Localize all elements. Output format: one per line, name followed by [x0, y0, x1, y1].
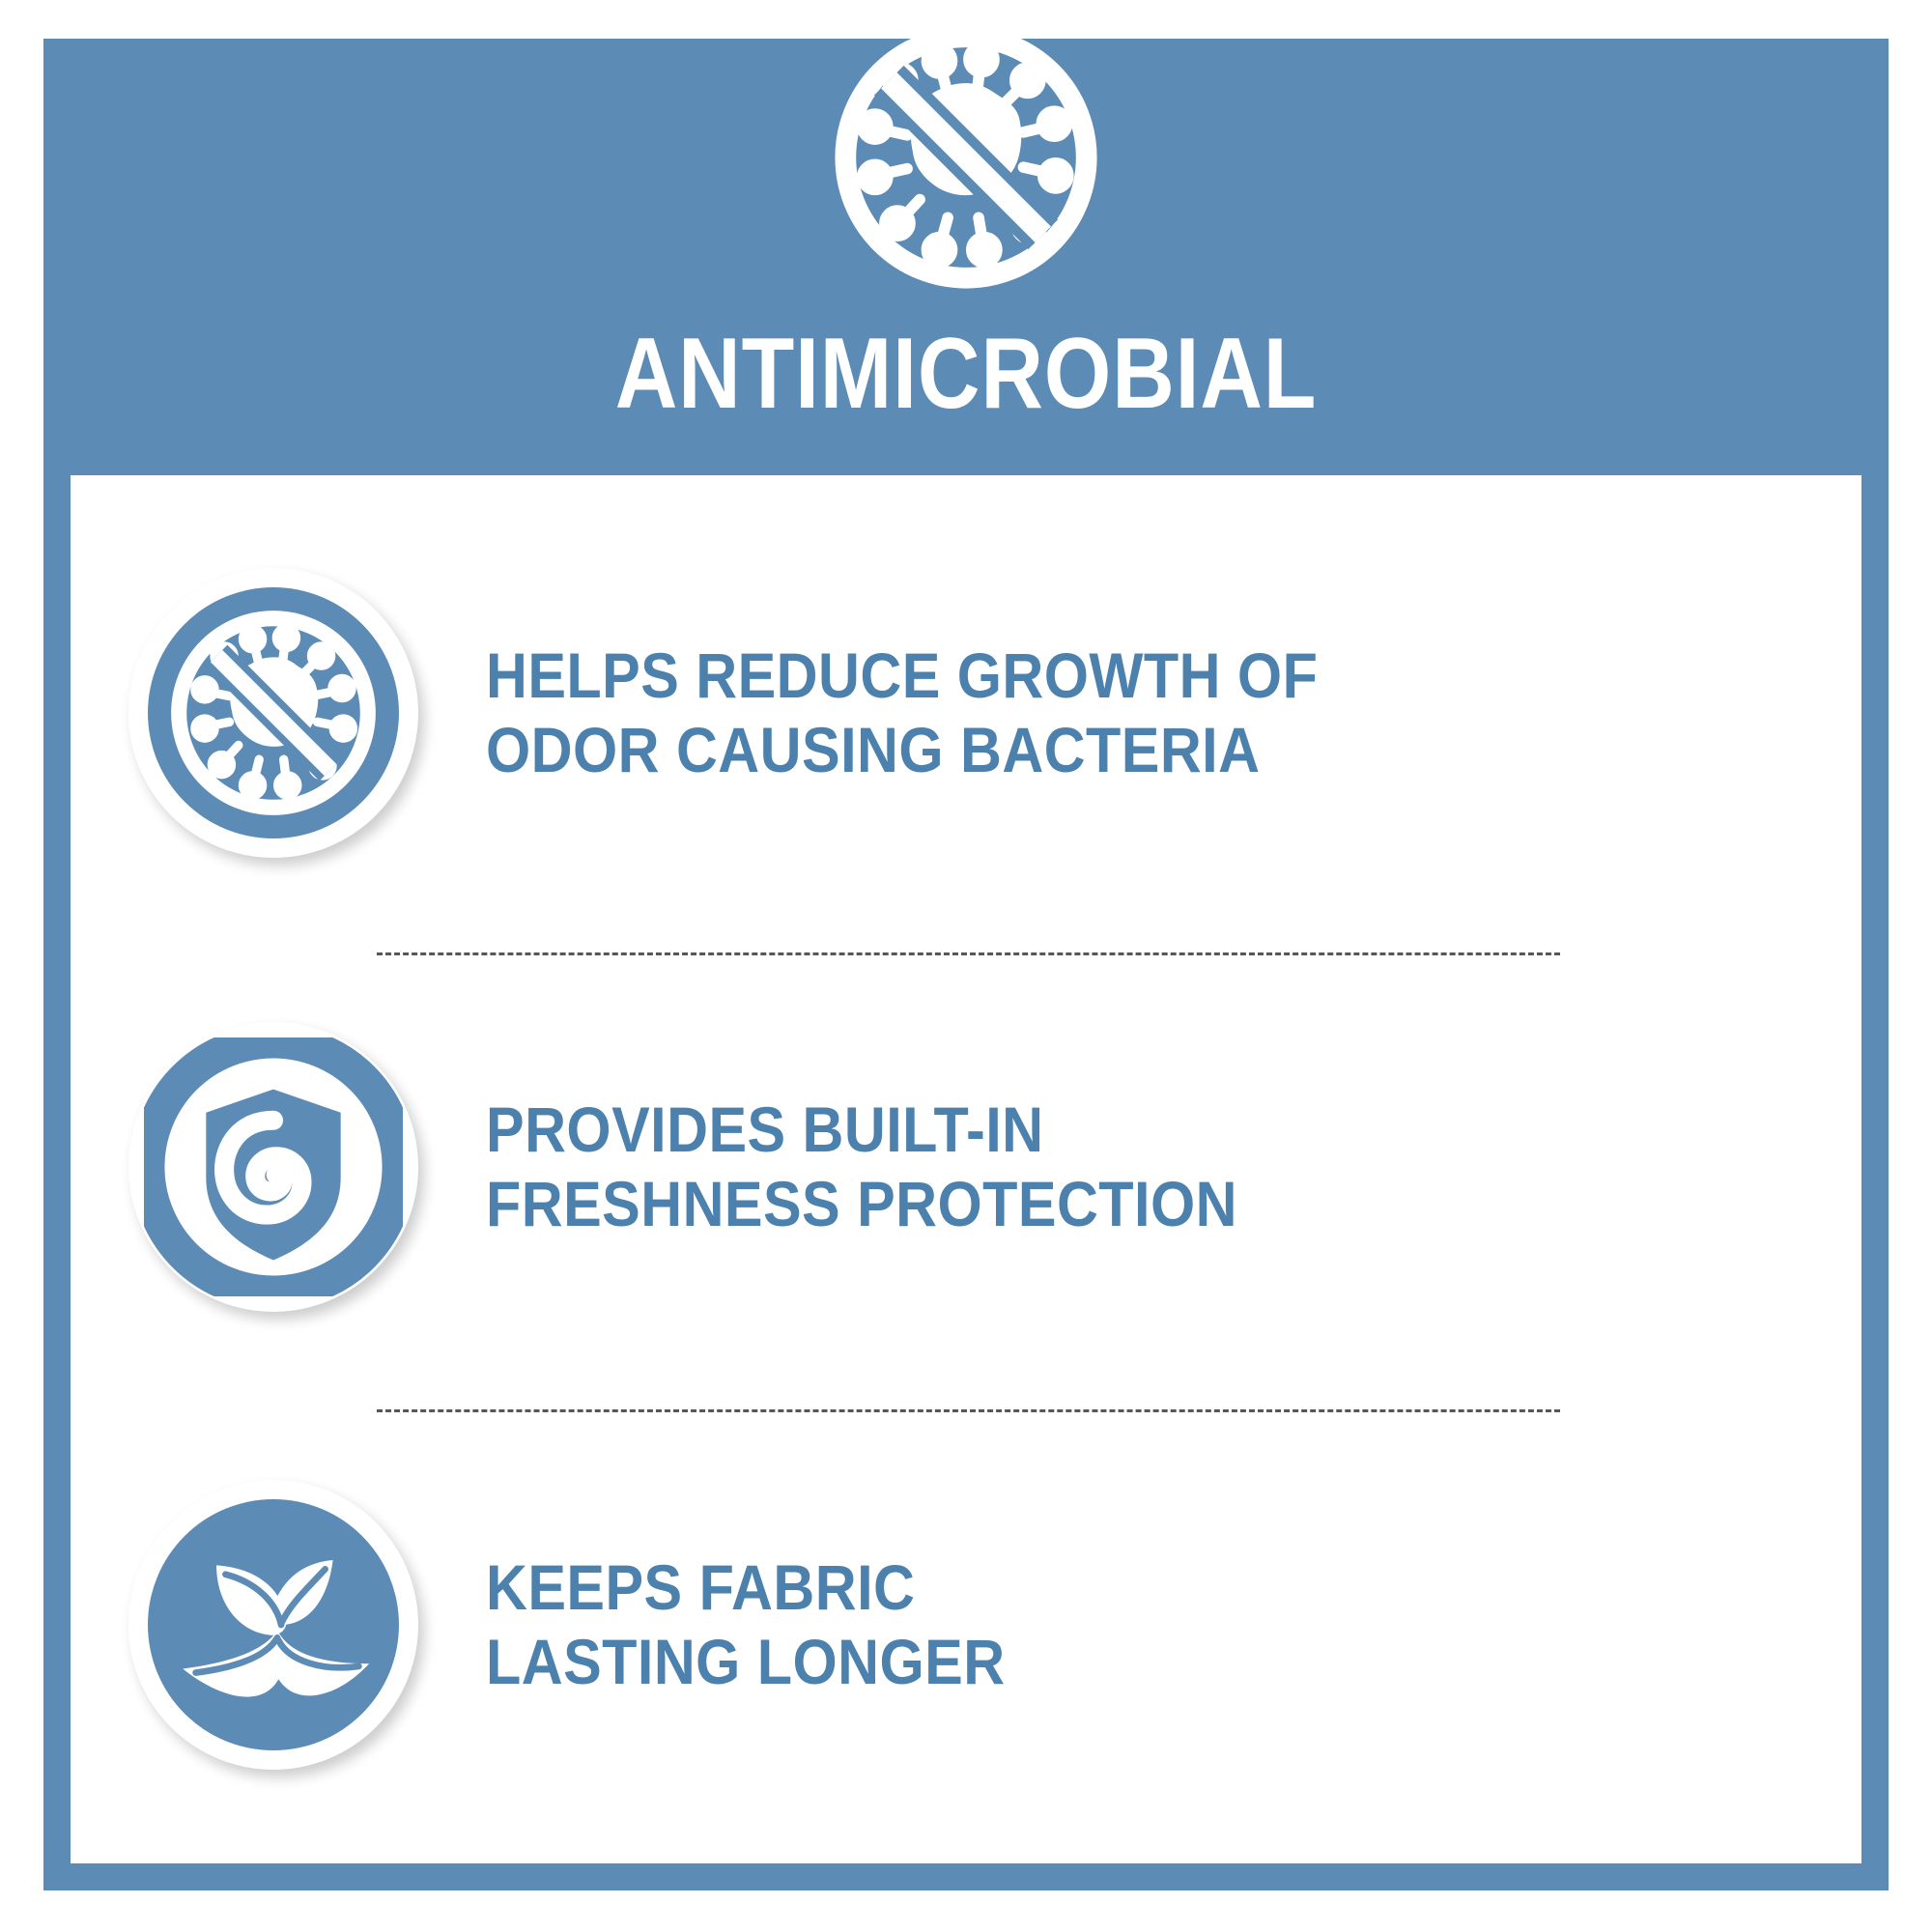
- feature-row: KEEPS FABRIC LASTING LONGER: [71, 1470, 1861, 1779]
- antimicrobial-infographic: ANTIMICROBIAL: [0, 0, 1932, 1932]
- leaf-sprout-icon: [128, 1480, 418, 1770]
- feature-icon-cell: [71, 568, 476, 858]
- no-germ-icon: [128, 568, 418, 858]
- feature-icon-cell: [71, 1480, 476, 1770]
- feature-text-cell: PROVIDES BUILT-IN FRESHNESS PROTECTION: [476, 1093, 1861, 1240]
- page-title: ANTIMICROBIAL: [173, 324, 1760, 424]
- feature-row: HELPS REDUCE GROWTH OF ODOR CAUSING BACT…: [71, 558, 1861, 867]
- features-list: HELPS REDUCE GROWTH OF ODOR CAUSING BACT…: [71, 475, 1861, 1863]
- feature-label: HELPS REDUCE GROWTH OF ODOR CAUSING BACT…: [486, 639, 1724, 786]
- shield-swirl-icon: [128, 1022, 418, 1312]
- feature-label: PROVIDES BUILT-IN FRESHNESS PROTECTION: [486, 1093, 1724, 1240]
- feature-divider: [377, 1409, 1560, 1412]
- feature-text-cell: KEEPS FABRIC LASTING LONGER: [476, 1550, 1861, 1698]
- feature-text-cell: HELPS REDUCE GROWTH OF ODOR CAUSING BACT…: [476, 639, 1861, 786]
- feature-row: PROVIDES BUILT-IN FRESHNESS PROTECTION: [71, 1012, 1861, 1321]
- feature-divider: [377, 952, 1560, 955]
- feature-icon-cell: [71, 1022, 476, 1312]
- no-germ-icon: [826, 17, 1106, 298]
- header-banner: ANTIMICROBIAL: [43, 39, 1889, 475]
- feature-label: KEEPS FABRIC LASTING LONGER: [486, 1550, 1724, 1698]
